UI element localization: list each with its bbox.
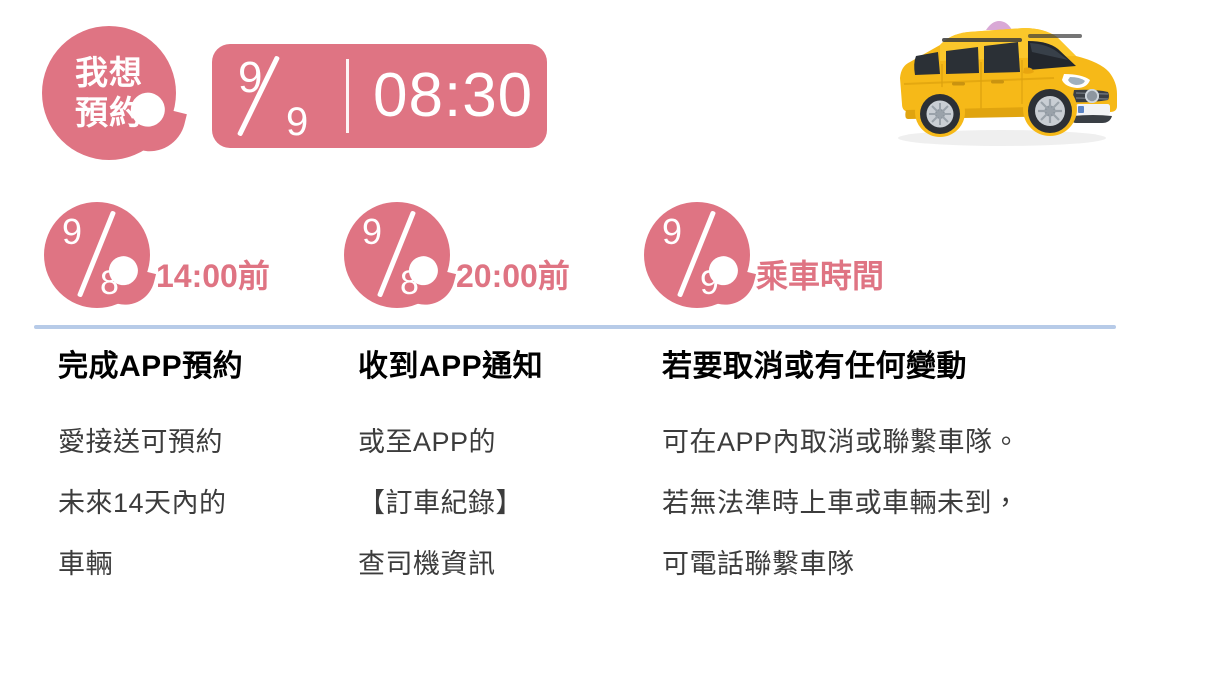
pill-divider xyxy=(346,59,349,133)
column-title-1: 完成APP預約 xyxy=(58,352,348,382)
section-divider xyxy=(34,325,1116,329)
timeline-step-1: 9 8 14:00前 xyxy=(44,196,270,308)
step-day: 9 xyxy=(700,266,719,300)
column-body-2: 或至APP的 【訂車紀錄】 查司機資訊 xyxy=(358,412,648,595)
body-line: 愛接送可預約 xyxy=(58,412,348,473)
intent-bubble-text: 我想 預約 xyxy=(42,26,176,160)
yellow-taxi-van-icon xyxy=(878,12,1122,152)
step-day: 8 xyxy=(100,266,119,300)
date-bubble-3: 9 9 xyxy=(644,202,750,308)
body-line: 查司機資訊 xyxy=(358,534,648,595)
step-month: 9 xyxy=(362,214,382,250)
timeline-label-1: 14:00前 xyxy=(156,260,270,308)
date-bubble-1: 9 8 xyxy=(44,202,150,308)
body-line: 車輛 xyxy=(58,534,348,595)
intent-line-2: 預約 xyxy=(75,95,143,131)
timeline-step-2: 9 8 20:00前 xyxy=(344,196,570,308)
header-row: 我想 預約 9 9 08:30 xyxy=(0,0,1219,180)
timeline-label-2: 20:00前 xyxy=(456,260,570,308)
intent-speech-bubble: 我想 預約 xyxy=(42,26,176,160)
detail-columns: 完成APP預約 愛接送可預約 未來14天內的 車輛 收到APP通知 或至APP的… xyxy=(0,352,1219,632)
step-month: 9 xyxy=(62,214,82,250)
body-line: 可在APP內取消或聯繫車隊。 xyxy=(662,412,1132,473)
pill-day: 9 xyxy=(286,102,308,142)
intent-line-1: 我想 xyxy=(75,55,143,91)
column-body-3: 可在APP內取消或聯繫車隊。 若無法準時上車或車輛未到， 可電話聯繫車隊 xyxy=(662,412,1132,595)
column-title-2: 收到APP通知 xyxy=(358,352,648,382)
body-line: 未來14天內的 xyxy=(58,473,348,534)
date-bubble-2: 9 8 xyxy=(344,202,450,308)
infographic-canvas: 我想 預約 9 9 08:30 xyxy=(0,0,1219,692)
pill-time: 08:30 xyxy=(373,65,533,127)
timeline-label-3: 乘車時間 xyxy=(756,260,884,308)
step-month: 9 xyxy=(662,214,682,250)
step-day: 8 xyxy=(400,266,419,300)
timeline-row: 9 8 14:00前 9 8 20:00前 xyxy=(0,196,1219,308)
detail-column-3: 若要取消或有任何變動 可在APP內取消或聯繫車隊。 若無法準時上車或車輛未到， … xyxy=(662,352,1132,595)
body-line: 或至APP的 xyxy=(358,412,648,473)
date-fraction-2: 9 8 xyxy=(344,202,450,308)
body-line: 【訂車紀錄】 xyxy=(358,473,648,534)
date-fraction-3: 9 9 xyxy=(644,202,750,308)
datetime-pill: 9 9 08:30 xyxy=(212,44,547,148)
column-title-3: 若要取消或有任何變動 xyxy=(662,352,1132,382)
pill-date-fraction: 9 9 xyxy=(234,54,340,138)
detail-column-1: 完成APP預約 愛接送可預約 未來14天內的 車輛 xyxy=(58,352,348,595)
body-line: 可電話聯繫車隊 xyxy=(662,534,1132,595)
date-fraction-1: 9 8 xyxy=(44,202,150,308)
body-line: 若無法準時上車或車輛未到， xyxy=(662,473,1132,534)
column-body-1: 愛接送可預約 未來14天內的 車輛 xyxy=(58,412,348,595)
timeline-step-3: 9 9 乘車時間 xyxy=(644,196,884,308)
detail-column-2: 收到APP通知 或至APP的 【訂車紀錄】 查司機資訊 xyxy=(358,352,648,595)
